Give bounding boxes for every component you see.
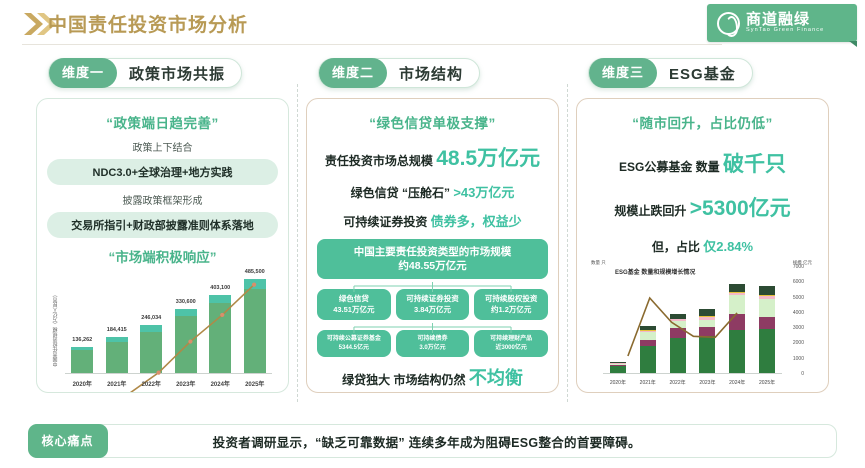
tree-leaf-node: 可持续债券3.0万亿元 <box>396 330 470 357</box>
core-painpoint-banner: 核心痛点 投资者调研显示，“缺乏可靠数据” 连续多年成为阻碍ESG整合的首要障碍… <box>28 424 837 458</box>
tree-mid-node: 可持续证券投资3.84万亿元 <box>396 289 470 320</box>
column-dimension-2: 维度二 市场结构 “绿色信贷单极支撑” 责任投资市场总规模 48.5万亿元 绿色… <box>298 58 567 410</box>
esg-fund-growth-chart: ESG基金 数量和规模增长情况 数量 只 规模 亿元 0100020003000… <box>589 263 816 388</box>
tree-leaf-node: 可持续理财产品近3000亿元 <box>474 330 548 357</box>
page-header: 中国责任投资市场分析 商道融绿 SynTao Green Finance <box>0 0 865 46</box>
tree-leaf-row: 可持续公募证券基金5344.5亿元可持续债券3.0万亿元可持续理财产品近3000… <box>317 330 548 357</box>
chart3-y-tick: 3000 <box>793 325 804 331</box>
dimension-1-sub1: 政策上下结合 <box>47 139 278 154</box>
chart3-bar-segment <box>759 329 775 373</box>
chart1-x-tick: 2024年 <box>211 379 230 388</box>
dimension-2-kv1-value: 48.5万亿元 <box>436 147 540 170</box>
dimension-2-footnote-text: 绿贷独大 市场结构仍然 <box>342 373 465 387</box>
chart1-bar-label: 246,034 <box>141 315 161 321</box>
dimension-3-kv1-value: 破千只 <box>723 153 786 176</box>
tree-node-line1: 可持续证券投资 <box>398 294 468 305</box>
column-dimension-1: 维度一 政策市场共振 “政策端日趋完善” 政策上下结合 NDC3.0+全球治理+… <box>28 58 297 410</box>
chart3-bar-segment <box>670 328 686 338</box>
tree-node-line1: 可持续理财产品 <box>475 335 547 343</box>
dimension-1-pill[interactable]: 维度一 政策市场共振 <box>48 58 242 88</box>
dimension-3-kv1-label: ESG公募基金 数量 <box>619 160 720 174</box>
dimension-3-kv3-value: 仅2.84% <box>703 239 753 254</box>
dimension-1-label: 政策市场共振 <box>117 63 241 84</box>
tree-node-line2: 近3000亿元 <box>475 344 547 352</box>
tree-mid-row: 绿色信贷43.51万亿元可持续证券投资3.84万亿元可持续股权投资约1.2万亿元 <box>317 289 548 320</box>
dimension-2-card: “绿色信贷单极支撑” 责任投资市场总规模 48.5万亿元 绿色信贷 “压舱石” … <box>306 98 559 393</box>
dimension-3-quote: “随市回升，占比仍低” <box>587 112 818 132</box>
chart1-bar-segment-b <box>140 325 162 332</box>
chart3-bar-segment <box>699 320 715 327</box>
chart1-bar-label: 485,500 <box>245 269 265 275</box>
chart3-bar <box>640 326 656 373</box>
chart3-x-tick: 2021年 <box>640 379 656 386</box>
tree-root-node: 中国主要责任投资类型的市场规模 约48.55万亿元 <box>317 239 548 279</box>
tree-mid-node: 可持续股权投资约1.2万亿元 <box>474 289 548 320</box>
chart1-x-tick: 2025年 <box>245 379 264 388</box>
logo-name-cn: 商道融绿 <box>746 12 824 28</box>
chart3-left-axis-label: 数量 只 <box>591 260 606 266</box>
tree-node-line1: 绿色信贷 <box>319 294 389 305</box>
core-painpoint-text: 投资者调研显示，“缺乏可靠数据” 连续多年成为阻碍ESG整合的首要障碍。 <box>108 432 836 451</box>
dimension-2-kv1: 责任投资市场总规模 48.5万亿元 <box>317 142 548 172</box>
chart3-bar-segment <box>699 309 715 316</box>
chart3-y-tick: 2000 <box>793 340 804 346</box>
chart3-bar-segment <box>759 286 775 295</box>
dimension-1-tag: 维度一 <box>49 58 117 88</box>
core-painpoint-badge: 核心痛点 <box>28 424 108 458</box>
tree-mid-node: 绿色信贷43.51万亿元 <box>317 289 391 320</box>
chart3-plot-area <box>603 273 782 374</box>
dimension-1-quote2: “市场端积极响应” <box>47 246 278 266</box>
responsible-investment-scale-chart: 中国责任投资规模（万亿人民币） 136,262184,415246,034330… <box>51 272 274 390</box>
tree-root-line2: 约48.55万亿元 <box>321 259 544 273</box>
chart3-bars <box>603 273 782 373</box>
tree-leaf-node: 可持续公募证券基金5344.5亿元 <box>317 330 391 357</box>
chart1-bar: 403,100 <box>209 295 231 373</box>
dimension-3-kv2-value: >5300亿元 <box>690 197 791 220</box>
header-divider <box>22 44 722 45</box>
dimension-2-footnote-value: 不均衡 <box>469 368 523 388</box>
chart3-y-tick: 4000 <box>793 310 804 316</box>
chart1-bars: 136,262184,415246,034330,600403,100485,5… <box>65 272 272 373</box>
chart1-bar-segment-a <box>209 303 231 373</box>
chart3-bar <box>699 309 715 373</box>
chart1-bar-label: 136,262 <box>72 337 92 343</box>
dimension-2-kv2-label: 绿色信贷 “压舱石” <box>351 186 450 200</box>
chart1-x-tick: 2022年 <box>142 379 161 388</box>
dimension-3-kv1: ESG公募基金 数量 破千只 <box>587 148 818 178</box>
dimension-2-kv2: 绿色信贷 “压舱石” >43万亿元 <box>317 182 548 201</box>
chart1-x-tick: 2021年 <box>107 379 126 388</box>
dimension-2-pill[interactable]: 维度二 市场结构 <box>318 58 480 88</box>
chart3-bar-segment <box>640 332 656 340</box>
tree-node-line2: 约1.2万亿元 <box>476 305 546 316</box>
chart1-bar-segment-b <box>175 309 197 316</box>
dimension-2-footnote: 绿贷独大 市场结构仍然 不均衡 <box>317 364 548 390</box>
chart1-bar-segment-b <box>209 295 231 304</box>
chart3-y-tick: 6000 <box>793 279 804 285</box>
chart3-x-axis-labels: 2020年2021年2022年2023年2024年2025年 <box>603 376 782 388</box>
column-dimension-3: 维度三 ESG基金 “随市回升，占比仍低” ESG公募基金 数量 破千只 规模止… <box>568 58 837 410</box>
dimension-2-kv2-value: >43万亿元 <box>453 185 514 200</box>
logo-fold-decoration <box>849 41 857 47</box>
tree-connector-upper <box>317 279 548 289</box>
chart3-bar-segment <box>670 338 686 373</box>
chart3-y-tick: 1000 <box>793 356 804 362</box>
tree-node-line1: 可持续公募证券基金 <box>318 335 390 343</box>
dimension-3-pill[interactable]: 维度三 ESG基金 <box>588 58 753 88</box>
chart3-bar <box>670 314 686 373</box>
logo-mark-icon <box>717 12 740 35</box>
tree-node-line1: 可持续债券 <box>397 335 469 343</box>
chart3-bar-segment <box>759 317 775 328</box>
dimension-3-tag: 维度三 <box>589 58 657 88</box>
chart1-bar: 330,600 <box>175 309 197 373</box>
dimension-2-quote: “绿色信贷单极支撑” <box>317 112 548 132</box>
chart1-x-tick: 2023年 <box>176 379 195 388</box>
chart1-bar-label: 184,415 <box>107 327 127 333</box>
tree-node-line2: 3.84万亿元 <box>398 305 468 316</box>
chart3-bar-segment <box>729 295 745 314</box>
chart3-x-tick: 2020年 <box>610 379 626 386</box>
tree-node-line2: 43.51万亿元 <box>319 305 389 316</box>
chart1-bar: 485,500 <box>244 279 266 373</box>
chart1-bar-segment-a <box>244 289 266 373</box>
chart3-bar <box>759 286 775 373</box>
dimension-3-card: “随市回升，占比仍低” ESG公募基金 数量 破千只 规模止跌回升 >5300亿… <box>576 98 829 393</box>
chart3-bar-segment <box>759 299 775 317</box>
chart3-bar-segment <box>729 330 745 373</box>
chart3-bar <box>729 284 745 373</box>
chart1-x-tick: 2020年 <box>73 379 92 388</box>
dimension-3-kv2-label: 规模止跌回升 <box>614 204 686 218</box>
chart3-y-tick: 5000 <box>793 295 804 301</box>
dimension-1-quote: “政策端日趋完善” <box>47 112 278 132</box>
tree-node-line2: 3.0万亿元 <box>397 344 469 352</box>
dimension-columns: 维度一 政策市场共振 “政策端日趋完善” 政策上下结合 NDC3.0+全球治理+… <box>0 58 865 410</box>
dimension-3-label: ESG基金 <box>657 63 752 84</box>
chart1-y-axis-label: 中国责任投资规模（万亿人民币） <box>49 278 61 382</box>
chart1-bar-segment-a <box>71 350 93 373</box>
chart3-y-tick: 7000 <box>793 264 804 270</box>
dimension-3-kv2: 规模止跌回升 >5300亿元 <box>587 192 818 222</box>
chart3-x-tick: 2023年 <box>699 379 715 386</box>
chart3-bar-segment <box>729 314 745 330</box>
chart1-bar-label: 403,100 <box>210 285 230 291</box>
dimension-1-chip1: NDC3.0+全球治理+地方实践 <box>47 159 278 185</box>
chart3-bar-segment <box>699 327 715 336</box>
dimension-1-card: “政策端日趋完善” 政策上下结合 NDC3.0+全球治理+地方实践 披露政策框架… <box>36 98 289 393</box>
dimension-3-kv3-label: 但，占比 <box>652 240 700 254</box>
tree-root-line1: 中国主要责任投资类型的市场规模 <box>321 245 544 259</box>
chart1-x-axis-labels: 2020年2021年2022年2023年2024年2025年 <box>65 376 272 390</box>
chart3-bar-segment <box>670 321 686 328</box>
chart1-bar: 184,415 <box>106 337 128 373</box>
dimension-2-kv1-label: 责任投资市场总规模 <box>325 154 433 168</box>
chart1-bar: 246,034 <box>140 325 162 373</box>
chart3-bar-segment <box>640 346 656 373</box>
dimension-1-sub2: 披露政策框架形成 <box>47 192 278 207</box>
company-logo: 商道融绿 SynTao Green Finance <box>707 4 857 42</box>
tree-node-line2: 5344.5亿元 <box>318 344 390 352</box>
chart3-x-tick: 2024年 <box>729 379 745 386</box>
logo-name-en: SynTao Green Finance <box>746 28 824 34</box>
tree-node-line1: 可持续股权投资 <box>476 294 546 305</box>
chart3-y-axis-ticks: 01000200030004000500060007000 <box>784 267 814 374</box>
dimension-2-kv3-value: 债券多，权益少 <box>431 214 522 229</box>
page-title: 中国责任投资市场分析 <box>48 10 248 37</box>
chart1-bar-segment-a <box>106 342 128 373</box>
dimension-2-label: 市场结构 <box>387 63 479 84</box>
chart1-bar-segment-b <box>244 279 266 290</box>
chart1-bar-segment-a <box>175 316 197 373</box>
dimension-2-kv3-label: 可持续证券投资 <box>343 215 427 229</box>
chart1-bar-label: 330,600 <box>176 299 196 305</box>
chart1-bar: 136,262 <box>71 347 93 373</box>
dimension-1-chip2: 交易所指引+财政部披露准则体系落地 <box>47 212 278 238</box>
chart3-y-tick: 0 <box>801 371 804 377</box>
chart3-bar <box>610 362 626 373</box>
chart1-plot-area: 136,262184,415246,034330,600403,100485,5… <box>65 272 272 374</box>
chart3-bar-segment <box>699 336 715 373</box>
chart3-bar-segment <box>729 284 745 293</box>
chart1-bar-segment-a <box>140 332 162 373</box>
chart3-bar-segment <box>610 366 626 373</box>
dimension-2-kv3: 可持续证券投资 债券多，权益少 <box>317 211 548 230</box>
chart3-x-tick: 2025年 <box>759 379 775 386</box>
chart3-x-tick: 2022年 <box>670 379 686 386</box>
tree-connector-lower <box>317 320 548 330</box>
infographic-page: 中国责任投资市场分析 商道融绿 SynTao Green Finance 维度一… <box>0 0 865 468</box>
dimension-2-tag: 维度二 <box>319 58 387 88</box>
dimension-3-kv3: 但，占比 仅2.84% <box>587 236 818 255</box>
market-structure-tree: 中国主要责任投资类型的市场规模 约48.55万亿元 绿色信贷43.51万亿元可持… <box>317 239 548 357</box>
